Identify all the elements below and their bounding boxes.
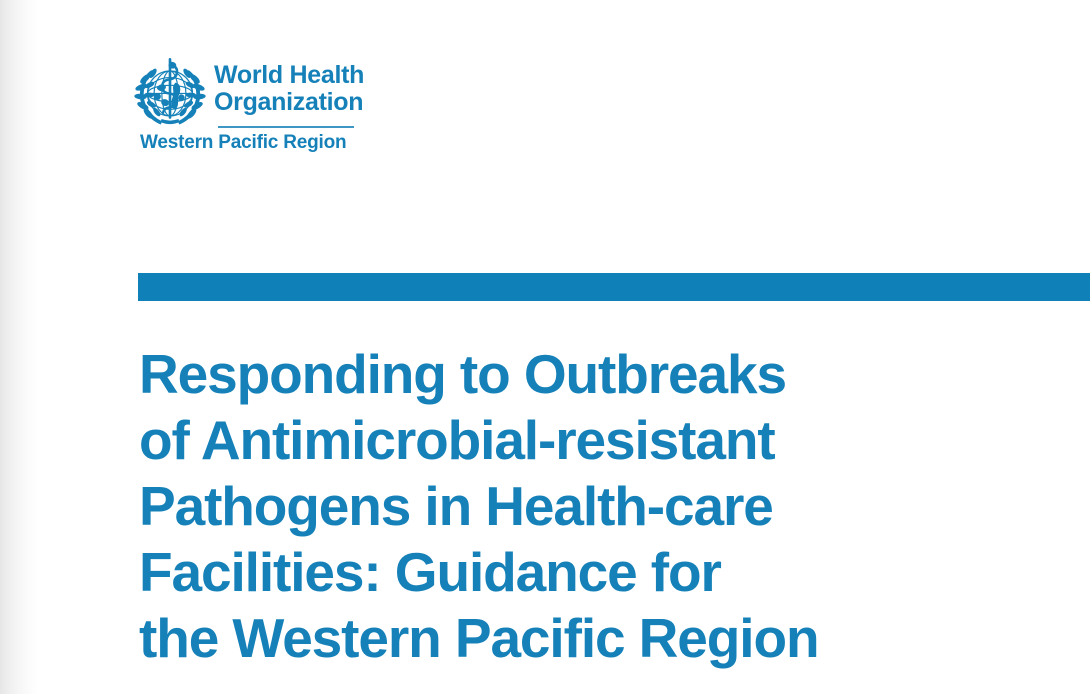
title-line-2: of Antimicrobial-resistant (139, 407, 1069, 473)
title-line-1: Responding to Outbreaks (139, 341, 1069, 407)
page-spine-shadow (0, 0, 38, 694)
who-logo-divider-rule (218, 126, 354, 128)
who-emblem-icon (131, 57, 209, 133)
cover-title: Responding to Outbreaks of Antimicrobial… (139, 341, 1069, 671)
who-region-label: Western Pacific Region (140, 131, 346, 154)
title-line-3: Pathogens in Health-care (139, 473, 1069, 539)
publication-cover-page: World Health Organization Western Pacifi… (0, 0, 1090, 694)
cover-accent-bar (138, 273, 1090, 301)
who-name-line-2: Organization (214, 89, 364, 116)
who-logo-lockup: World Health Organization Western Pacifi… (131, 57, 371, 133)
title-line-5: the Western Pacific Region (139, 605, 1069, 671)
who-logo-row: World Health Organization (131, 57, 371, 133)
who-name-line-1: World Health (214, 62, 364, 89)
title-line-4: Facilities: Guidance for (139, 539, 1069, 605)
who-wordmark: World Health Organization (214, 57, 364, 116)
